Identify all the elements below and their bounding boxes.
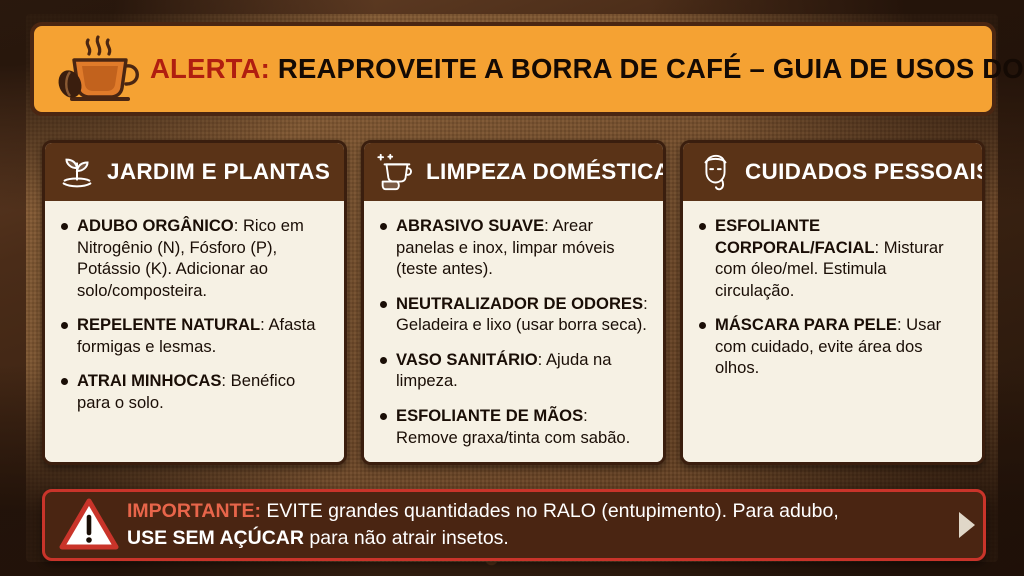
warning-triangle-icon <box>59 497 119 553</box>
face-mask-skincare-icon <box>693 150 737 194</box>
tip-term: ESFOLIANTE CORPORAL/FACIAL <box>715 216 874 257</box>
list-item: MÁSCARA PARA PELE: Usar com cuidado, evi… <box>697 314 970 379</box>
list-item: NEUTRALIZADOR DE ODORES: Geladeira e lix… <box>378 293 651 336</box>
card-body: ADUBO ORGÂNICO: Rico em Nitrogênio (N), … <box>45 201 344 459</box>
card-jardim-e-plantas: JARDIM E PLANTAS ADUBO ORGÂNICO: Rico em… <box>42 140 347 465</box>
play-arrow-icon <box>959 512 975 538</box>
infographic-canvas: ALERTA: REAPROVEITE A BORRA DE CAFÉ – GU… <box>0 0 1024 576</box>
list-item: ESFOLIANTE CORPORAL/FACIAL: Misturar com… <box>697 215 970 301</box>
tip-term: NEUTRALIZADOR DE ODORES <box>396 294 643 313</box>
card-title: CUIDADOS PESSOAIS <box>745 159 985 185</box>
footer-strong-text: USE SEM AÇÚCAR <box>127 527 304 549</box>
list-item: REPELENTE NATURAL: Afasta formigas e les… <box>59 314 332 357</box>
tips-list: ABRASIVO SUAVE: Arear panelas e inox, li… <box>378 215 651 448</box>
tip-term: ATRAI MINHOCAS <box>77 371 221 390</box>
page-title: ALERTA: REAPROVEITE A BORRA DE CAFÉ – GU… <box>150 53 1024 85</box>
card-title: LIMPEZA DOMÉSTICA <box>426 159 666 185</box>
tips-list: ESFOLIANTE CORPORAL/FACIAL: Misturar com… <box>697 215 970 379</box>
coffee-cup-icon <box>54 30 150 108</box>
card-cuidados-pessoais: CUIDADOS PESSOAIS ESFOLIANTE CORPORAL/FA… <box>680 140 985 465</box>
cleaning-pot-sponge-icon <box>374 150 418 194</box>
tip-term: REPELENTE NATURAL <box>77 315 260 334</box>
card-header: LIMPEZA DOMÉSTICA <box>364 143 663 201</box>
list-item: VASO SANITÁRIO: Ajuda na limpeza. <box>378 349 651 392</box>
card-body: ESFOLIANTE CORPORAL/FACIAL: Misturar com… <box>683 201 982 459</box>
tip-term: ADUBO ORGÂNICO <box>77 216 234 235</box>
important-footer-banner: IMPORTANTE: EVITE grandes quantidades no… <box>42 489 986 561</box>
tip-term: ESFOLIANTE DE MÃOS <box>396 406 583 425</box>
list-item: ESFOLIANTE DE MÃOS: Remove graxa/tinta c… <box>378 405 651 448</box>
alert-header-banner: ALERTA: REAPROVEITE A BORRA DE CAFÉ – GU… <box>30 22 996 116</box>
plant-sprout-icon <box>55 150 99 194</box>
list-item: ABRASIVO SUAVE: Arear panelas e inox, li… <box>378 215 651 280</box>
alert-label: ALERTA: <box>150 53 270 84</box>
list-item: ADUBO ORGÂNICO: Rico em Nitrogênio (N), … <box>59 215 332 301</box>
importante-label: IMPORTANTE: <box>127 500 261 522</box>
tip-term: VASO SANITÁRIO <box>396 350 538 369</box>
footer-line-2: para não atrair insetos. <box>304 527 509 549</box>
card-body: ABRASIVO SUAVE: Arear panelas e inox, li… <box>364 201 663 462</box>
footer-line-1: EVITE grandes quantidades no RALO (entup… <box>261 500 839 522</box>
page-title-text: REAPROVEITE A BORRA DE CAFÉ – GUIA DE US… <box>270 53 1024 84</box>
card-limpeza-domestica: LIMPEZA DOMÉSTICA ABRASIVO SUAVE: Arear … <box>361 140 666 465</box>
tips-list: ADUBO ORGÂNICO: Rico em Nitrogênio (N), … <box>59 215 332 414</box>
card-header: CUIDADOS PESSOAIS <box>683 143 982 201</box>
card-title: JARDIM E PLANTAS <box>107 159 336 185</box>
tips-columns: JARDIM E PLANTAS ADUBO ORGÂNICO: Rico em… <box>42 140 986 465</box>
card-header: JARDIM E PLANTAS <box>45 143 344 201</box>
list-item: ATRAI MINHOCAS: Benéfico para o solo. <box>59 370 332 413</box>
tip-term: MÁSCARA PARA PELE <box>715 315 897 334</box>
footer-text: IMPORTANTE: EVITE grandes quantidades no… <box>127 498 839 551</box>
tip-term: ABRASIVO SUAVE <box>396 216 544 235</box>
